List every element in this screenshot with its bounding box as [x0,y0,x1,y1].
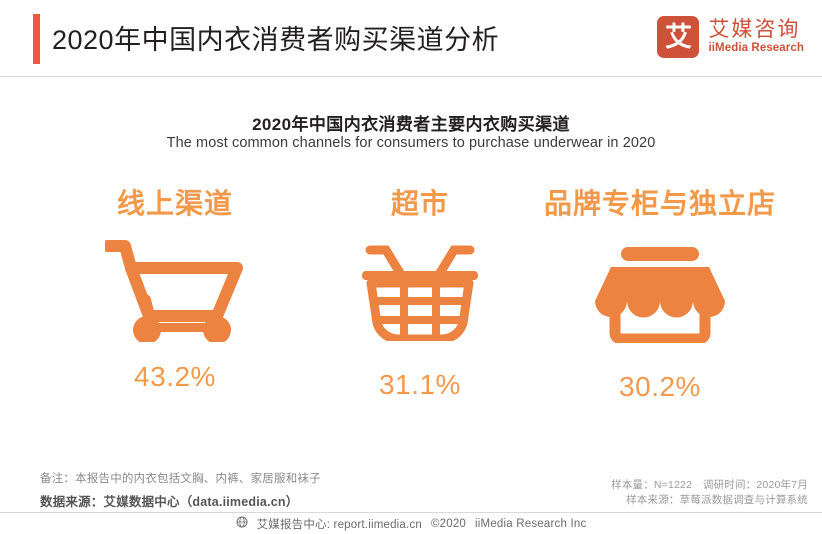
data-source: 数据来源：艾媒数据中心（data.iimedia.cn） [40,491,298,510]
globe-icon [236,516,248,531]
logo-text: 艾媒咨询 iiMedia Research [708,18,804,55]
channel-value: 31.1% [379,371,461,399]
logo-mark-glyph: 艾 [665,24,692,51]
page-title: 2020年中国内衣消费者购买渠道分析 [52,18,499,57]
title-accent-bar [33,14,40,64]
logo-name-cn: 艾媒咨询 [708,18,804,42]
chart-title: 2020年中国内衣消费者主要内衣购买渠道 [0,110,822,135]
channel-label: 超市 [391,190,449,218]
channel-value: 30.2% [619,373,701,401]
storefront-icon [593,236,727,351]
channel-label: 品牌专柜与独立店 [544,190,776,218]
logo-mark-icon: 艾 [657,16,699,58]
infographic-page: 2020年中国内衣消费者购买渠道分析 艾 艾媒咨询 iiMedia Resear… [0,0,822,534]
sample-size-info: 样本量：N=1222 调研时间：2020年7月 [611,477,808,492]
sample-source-info: 样本来源：草莓派数据调查与计算系统 [626,492,808,507]
channel-value: 43.2% [134,363,216,391]
bottom-bar: 艾媒报告中心: report.iimedia.cn ©2020 iiMedia … [0,513,822,534]
brand-logo: 艾 艾媒咨询 iiMedia Research [657,16,804,58]
channel-items: 线上渠道 43.2% 超市 [0,190,822,410]
shopping-basket-icon [360,234,480,349]
company-name: iiMedia Research Inc [475,518,586,530]
report-center-link[interactable]: 艾媒报告中心: report.iimedia.cn [257,516,422,532]
channel-item: 线上渠道 43.2% [25,190,325,391]
header-divider [0,76,822,77]
chart-subtitle: The most common channels for consumers t… [0,135,822,151]
channel-item: 品牌专柜与独立店 30.2% [515,190,805,401]
page-header: 2020年中国内衣消费者购买渠道分析 艾 艾媒咨询 iiMedia Resear… [0,0,822,76]
copyright-year: ©2020 [431,518,466,530]
channel-item: 超市 31.1% [325,190,515,399]
report-note: 备注：本报告中的内衣包括文胸、内裤、家居服和袜子 [40,470,321,486]
shopping-cart-icon [105,232,245,347]
logo-name-en: iiMedia Research [708,42,804,56]
channel-label: 线上渠道 [117,190,233,218]
